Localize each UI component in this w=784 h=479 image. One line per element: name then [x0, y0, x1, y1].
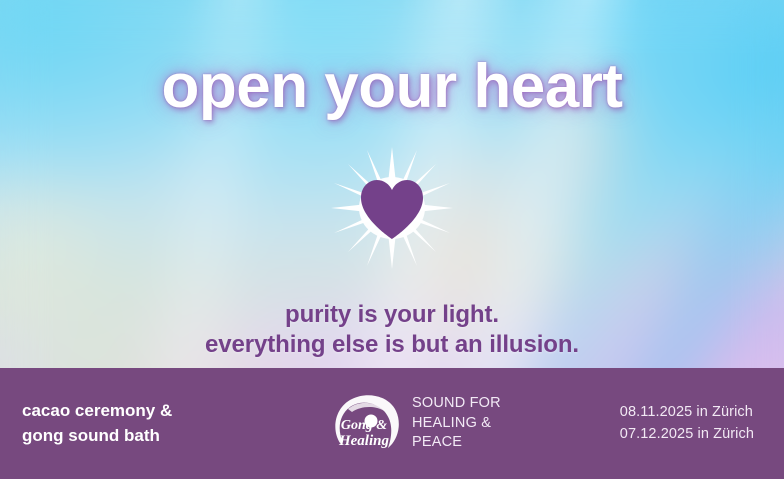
event-date-2: 07.12.2025 in Zürich [620, 424, 754, 446]
event-date-1: 08.11.2025 in Zürich [620, 402, 754, 424]
poster-tagline: purity is your light. everything else is… [0, 300, 784, 360]
tagline-line-1: purity is your light. [0, 300, 784, 330]
brand-claim-line-3: PEACE [412, 433, 501, 453]
poster-headline: open your heart [0, 56, 784, 118]
tagline-line-2: everything else is but an illusion. [0, 330, 784, 360]
brand-claim: SOUND FOR HEALING & PEACE [412, 394, 501, 453]
event-title: cacao ceremony & gong sound bath [0, 399, 330, 448]
event-dates: 08.11.2025 in Zürich 07.12.2025 in Züric… [620, 402, 784, 446]
brand-claim-line-2: HEALING & [412, 414, 501, 434]
poster-canvas: open your heart [0, 0, 784, 479]
svg-text:Healing: Healing [338, 433, 390, 449]
brand-block: Gong & Healing SOUND FOR HEALING & PEACE [330, 391, 501, 457]
heart-starburst-icon [331, 147, 453, 269]
event-title-line-1: cacao ceremony & [22, 399, 330, 424]
brand-claim-line-1: SOUND FOR [412, 394, 501, 414]
gong-healing-logo: Gong & Healing [330, 391, 402, 457]
event-title-line-2: gong sound bath [22, 424, 330, 449]
footer-bar: cacao ceremony & gong sound bath Gong & … [0, 368, 784, 479]
svg-text:Gong &: Gong & [341, 418, 387, 433]
